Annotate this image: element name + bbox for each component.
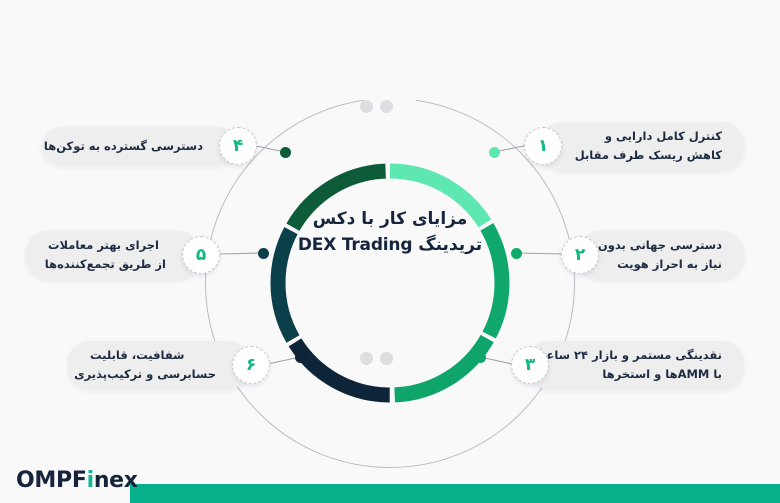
callout-2-line1: دسترسی جهانی بدون [612,236,722,255]
badge-number-3[interactable]: ۳ [511,346,549,384]
footer-accent-bar [130,484,780,503]
hub-dot-6 [295,352,306,363]
callout-2-text: دسترسی جهانی بدون نیاز به احراز هویت [612,236,722,274]
callout-1[interactable]: کنترل کامل دارایی و کاهش ریسک طرف مقابل [540,122,744,170]
hub-dot-4 [280,147,291,158]
logo-main: OMPF [16,468,87,493]
guide-decor-dot-top-right [380,100,393,113]
callout-5[interactable]: اجرای بهتر معاملات از طریق تجمع‌کننده‌ها [26,231,200,279]
brand-logo: OMPFinex [16,468,138,493]
badge-number-6[interactable]: ۶ [232,346,270,384]
hub-dot-5 [258,248,269,259]
hub-dot-3 [475,352,486,363]
callout-5-line2: از طریق تجمع‌کننده‌ها [48,255,166,274]
callout-3-line1: نقدینگی مستمر و بازار ۲۴ ساعته [561,346,722,365]
callout-3[interactable]: نقدینگی مستمر و بازار ۲۴ ساعته با AMMها … [527,341,744,389]
callout-4-line1: دسترسی گسترده به توکن‌ها [64,137,203,156]
segmented-donut-chart [262,155,518,411]
hub-dot-2 [511,248,522,259]
guide-decor-dot-top-left [360,100,373,113]
callout-6-line2: حسابرسی و ترکیب‌پذیری [90,365,216,384]
logo-highlight: i [87,468,94,493]
center-title: مزایای کار با دکس تریدینگ DEX Trading [287,206,493,259]
badge-number-2[interactable]: ۲ [561,236,599,274]
badge-number-1[interactable]: ۱ [524,127,562,165]
callout-2-line2: نیاز به احراز هویت [612,255,722,274]
badge-number-4[interactable]: ۴ [219,127,257,165]
center-title-line1: مزایای کار با دکس [313,209,468,229]
callout-1-line1: کنترل کامل دارایی و [574,127,722,146]
callout-5-text: اجرای بهتر معاملات از طریق تجمع‌کننده‌ها [48,236,166,274]
infographic-canvas: مزایای کار با دکس تریدینگ DEX Trading ۱ … [0,0,780,503]
logo-tail: nex [94,468,138,493]
center-title-line2: تریدینگ DEX Trading [287,232,493,258]
callout-6-text: شفافیت، قابلیت حسابرسی و ترکیب‌پذیری [90,346,216,384]
callout-1-line2: کاهش ریسک طرف مقابل [574,146,722,165]
callout-3-line2: با AMMها و استخرها [561,365,722,384]
callout-5-line1: اجرای بهتر معاملات [48,236,166,255]
badge-number-5[interactable]: ۵ [182,236,220,274]
callout-2[interactable]: دسترسی جهانی بدون نیاز به احراز هویت [578,231,744,279]
callout-1-text: کنترل کامل دارایی و کاهش ریسک طرف مقابل [574,127,722,165]
callout-4[interactable]: دسترسی گسترده به توکن‌ها [42,127,237,165]
hub-dot-1 [489,147,500,158]
callout-3-text: نقدینگی مستمر و بازار ۲۴ ساعته با AMMها … [561,346,722,384]
callout-4-text: دسترسی گسترده به توکن‌ها [64,137,203,156]
callout-6-line1: شفافیت، قابلیت [90,346,216,365]
callout-6[interactable]: شفافیت، قابلیت حسابرسی و ترکیب‌پذیری [68,341,250,389]
